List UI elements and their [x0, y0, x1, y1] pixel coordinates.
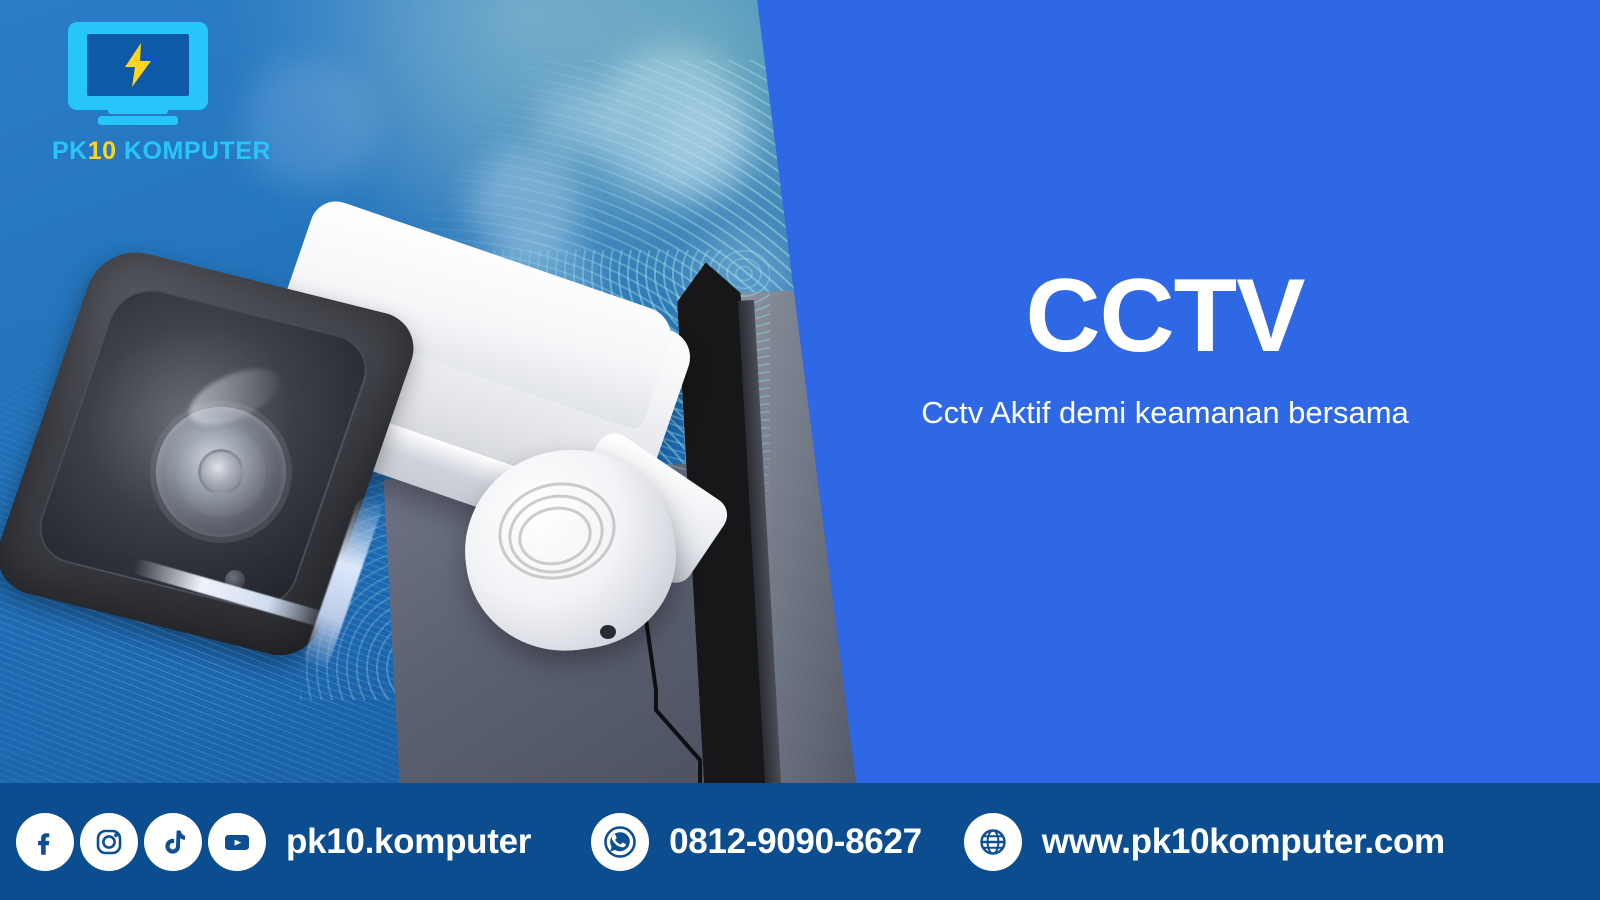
lightning-bolt-icon [121, 42, 155, 88]
brand-logo[interactable]: PK10 KOMPUTER [50, 22, 260, 166]
youtube-icon[interactable] [208, 813, 266, 871]
social-handle[interactable]: pk10.komputer [286, 822, 531, 862]
globe-icon[interactable] [964, 813, 1022, 871]
bullet-camera [10, 255, 710, 685]
cctv-promo-banner: PK10 KOMPUTER CCTV Cctv Aktif demi keama… [0, 0, 1600, 900]
contact-footer-bar: pk10.komputer 0812-9090-8627 [0, 783, 1600, 900]
page-title: CCTV [880, 264, 1450, 368]
brand-name-10: 10 [88, 137, 117, 165]
website-group: www.pk10komputer.com [964, 813, 1445, 871]
whatsapp-group: 0812-9090-8627 [591, 813, 922, 871]
brand-name-komputer: KOMPUTER [117, 137, 272, 165]
mount-screw [600, 625, 616, 639]
brand-name: PK10 KOMPUTER [52, 137, 260, 166]
camera-lens-inner [198, 449, 244, 495]
social-group: pk10.komputer [16, 813, 531, 871]
website-url[interactable]: www.pk10komputer.com [1042, 822, 1445, 862]
brand-name-pk: PK [52, 137, 88, 165]
tiktok-icon[interactable] [144, 813, 202, 871]
instagram-icon[interactable] [80, 813, 138, 871]
facebook-icon[interactable] [16, 813, 74, 871]
whatsapp-icon[interactable] [591, 813, 649, 871]
phone-number[interactable]: 0812-9090-8627 [669, 822, 922, 862]
page-subtitle: Cctv Aktif demi keamanan bersama [820, 394, 1510, 431]
monitor-lightning-icon [68, 22, 208, 127]
